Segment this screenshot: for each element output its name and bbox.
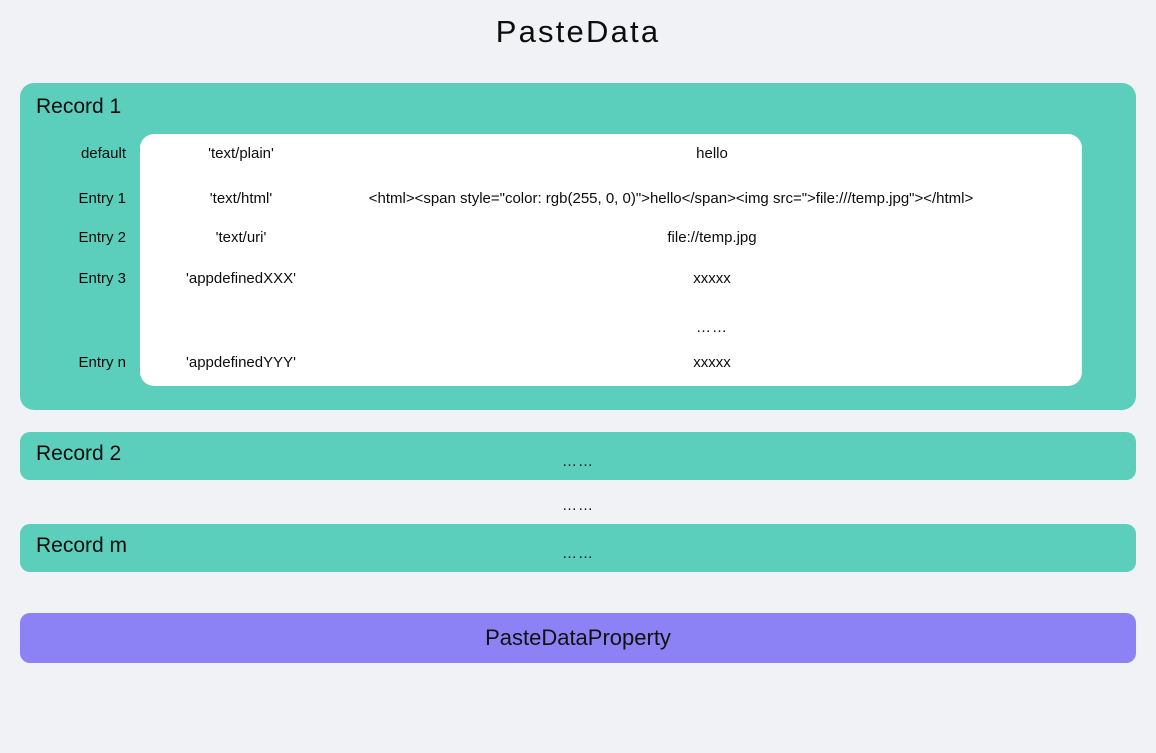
entry-mime-type: 'text/plain' bbox=[140, 145, 342, 162]
entry-label-default: default bbox=[20, 145, 126, 162]
paste-data-property-bar: PasteDataProperty bbox=[20, 613, 1136, 663]
entry-row: 'text/html' <html><span style="color: rg… bbox=[140, 190, 1082, 208]
paste-data-property-label: PasteDataProperty bbox=[20, 625, 1136, 651]
entry-value: hello bbox=[342, 145, 1082, 162]
entries-card: 'text/plain' hello 'text/html' <html><sp… bbox=[140, 134, 1082, 386]
entry-mime-type: 'text/uri' bbox=[140, 229, 342, 246]
entry-value: xxxxx bbox=[342, 354, 1082, 371]
entry-label-2: Entry 2 bbox=[20, 229, 126, 246]
entry-row: 'text/plain' hello bbox=[140, 145, 1082, 163]
entries-ellipsis: …… bbox=[342, 319, 1082, 336]
page-title: PasteData bbox=[0, 14, 1156, 50]
entry-label-n: Entry n bbox=[20, 354, 126, 371]
record-2-bar: Record 2 …… bbox=[20, 432, 1136, 480]
record-1-panel: Record 1 default Entry 1 Entry 2 Entry 3… bbox=[20, 83, 1136, 410]
entry-mime-type: 'appdefinedYYY' bbox=[140, 354, 342, 371]
record-2-ellipsis: …… bbox=[20, 453, 1136, 470]
entry-row: 'text/uri' file://temp.jpg bbox=[140, 229, 1082, 247]
entry-mime-type: 'appdefinedXXX' bbox=[140, 270, 342, 287]
entry-label-1: Entry 1 bbox=[20, 190, 126, 207]
entry-value: <html><span style="color: rgb(255, 0, 0)… bbox=[260, 190, 1082, 207]
records-ellipsis: …… bbox=[20, 497, 1136, 514]
entry-row: 'appdefinedYYY' xxxxx bbox=[140, 354, 1082, 372]
entry-value: file://temp.jpg bbox=[342, 229, 1082, 246]
entry-label-3: Entry 3 bbox=[20, 270, 126, 287]
record-m-bar: Record m …… bbox=[20, 524, 1136, 572]
entry-row: 'appdefinedXXX' xxxxx bbox=[140, 270, 1082, 288]
record-m-ellipsis: …… bbox=[20, 545, 1136, 562]
entry-value: xxxxx bbox=[342, 270, 1082, 287]
record-1-title: Record 1 bbox=[36, 95, 121, 119]
